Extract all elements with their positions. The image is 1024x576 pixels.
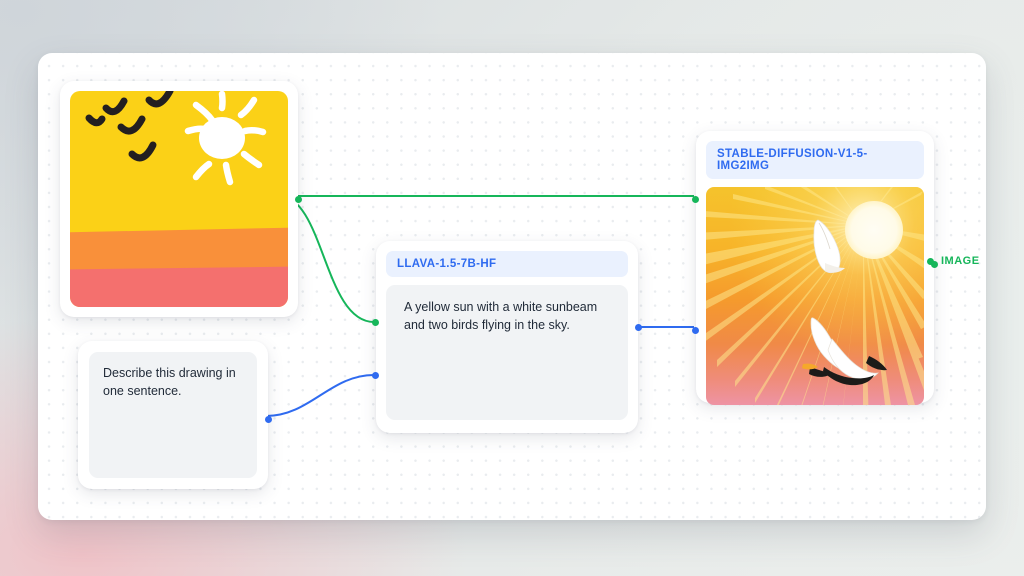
drawing-artwork xyxy=(70,91,288,307)
handle-drawing-image-output[interactable] xyxy=(295,196,302,203)
birds-icon xyxy=(89,91,170,158)
page-root: Describe this drawing in one sentence. L… xyxy=(0,0,1024,576)
handle-prompt-text-output[interactable] xyxy=(265,416,272,423)
flow-canvas-panel[interactable]: Describe this drawing in one sentence. L… xyxy=(38,53,986,520)
node-prompt[interactable]: Describe this drawing in one sentence. xyxy=(78,341,268,489)
sun-icon xyxy=(199,117,245,159)
llava-output-text: A yellow sun with a white sunbeam and tw… xyxy=(386,285,628,420)
output-pin-label: IMAGE xyxy=(941,255,980,267)
handle-sd-image-input[interactable] xyxy=(692,196,699,203)
node-llava[interactable]: LLAVA-1.5-7B-HF A yellow sun with a whit… xyxy=(376,241,638,433)
handle-sd-text-input[interactable] xyxy=(692,327,699,334)
generated-sunset-art xyxy=(706,187,924,405)
handle-llava-text-input[interactable] xyxy=(372,372,379,379)
node-stable-diffusion[interactable]: STABLE-DIFFUSION-V1-5-IMG2IMG xyxy=(696,131,934,403)
handle-llava-image-input[interactable] xyxy=(372,319,379,326)
generated-sun-icon xyxy=(845,201,903,259)
drawing-strokes xyxy=(70,91,288,307)
node-stable-diffusion-title: STABLE-DIFFUSION-V1-5-IMG2IMG xyxy=(706,141,924,179)
prompt-textarea[interactable]: Describe this drawing in one sentence. xyxy=(89,352,257,478)
handle-llava-text-output[interactable] xyxy=(635,324,642,331)
stable-diffusion-output-image xyxy=(706,187,924,405)
node-llava-title: LLAVA-1.5-7B-HF xyxy=(386,251,628,277)
node-drawing[interactable] xyxy=(60,81,298,317)
handle-sd-image-output[interactable] xyxy=(931,261,938,268)
